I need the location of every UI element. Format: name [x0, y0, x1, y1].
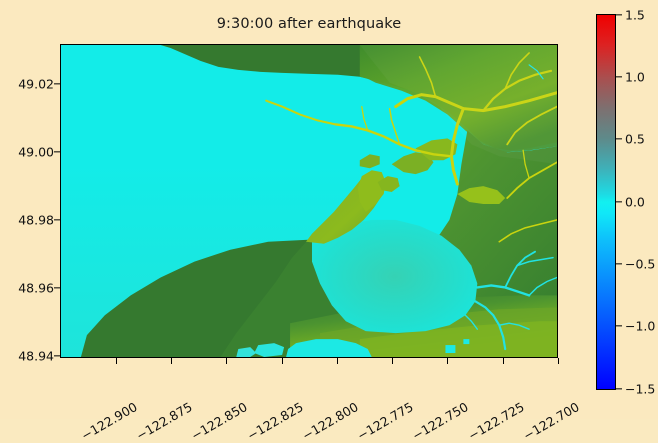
x-tick-label: −122.875	[133, 399, 194, 443]
x-tick-label: −122.750	[409, 399, 470, 443]
colorbar-tick-label: 1.5	[625, 8, 645, 23]
y-tickmark	[54, 83, 60, 84]
x-tickmark	[116, 358, 117, 364]
y-tick-label: 49.02	[18, 77, 54, 92]
x-tickmark	[226, 358, 227, 364]
y-tickmark	[54, 287, 60, 288]
y-tick-label: 48.94	[18, 349, 54, 364]
colorbar-tick-label: −1.5	[625, 382, 655, 397]
x-tickmark	[558, 358, 559, 364]
colorbar-tickmark	[616, 138, 622, 139]
x-tick-label: −122.850	[188, 399, 249, 443]
x-tick-label: −122.900	[78, 399, 139, 443]
plot-title: 9:30:00 after earthquake	[60, 16, 558, 32]
y-tick-label: 48.96	[18, 281, 54, 296]
colorbar-tick-label: −1.0	[625, 319, 655, 334]
colorbar-tick-label: 0.0	[625, 195, 645, 210]
colorbar-tickmark	[616, 263, 622, 264]
x-tick-label: −122.775	[354, 399, 415, 443]
colorbar-tickmark	[616, 14, 622, 15]
x-tick-label: −122.825	[244, 399, 305, 443]
y-tick-label: 49.00	[18, 145, 54, 160]
colorbar[interactable]	[596, 14, 616, 390]
y-tickmark	[54, 219, 60, 220]
colorbar-tickmark	[616, 76, 622, 77]
colorbar-tickmark	[616, 325, 622, 326]
x-tickmark	[447, 358, 448, 364]
colorbar-tick-label: 1.0	[625, 70, 645, 85]
colorbar-tickmark	[616, 388, 622, 389]
map-axes[interactable]	[60, 44, 558, 358]
x-tickmark	[392, 358, 393, 364]
y-tickmark	[54, 151, 60, 152]
colorbar-tick-label: −0.5	[625, 257, 655, 272]
x-tickmark	[282, 358, 283, 364]
x-tickmark	[503, 358, 504, 364]
map-raster	[61, 45, 557, 357]
colorbar-tick-label: 0.5	[625, 132, 645, 147]
x-tick-label: −122.800	[299, 399, 360, 443]
x-tickmark	[171, 358, 172, 364]
colorbar-tickmark	[616, 201, 622, 202]
y-tickmark	[54, 355, 60, 356]
y-tick-label: 48.98	[18, 213, 54, 228]
x-tick-label: −122.725	[465, 399, 526, 443]
x-tick-label: −122.700	[520, 399, 581, 443]
x-tickmark	[337, 358, 338, 364]
figure-canvas: 9:30:00 after earthquake	[0, 0, 658, 419]
